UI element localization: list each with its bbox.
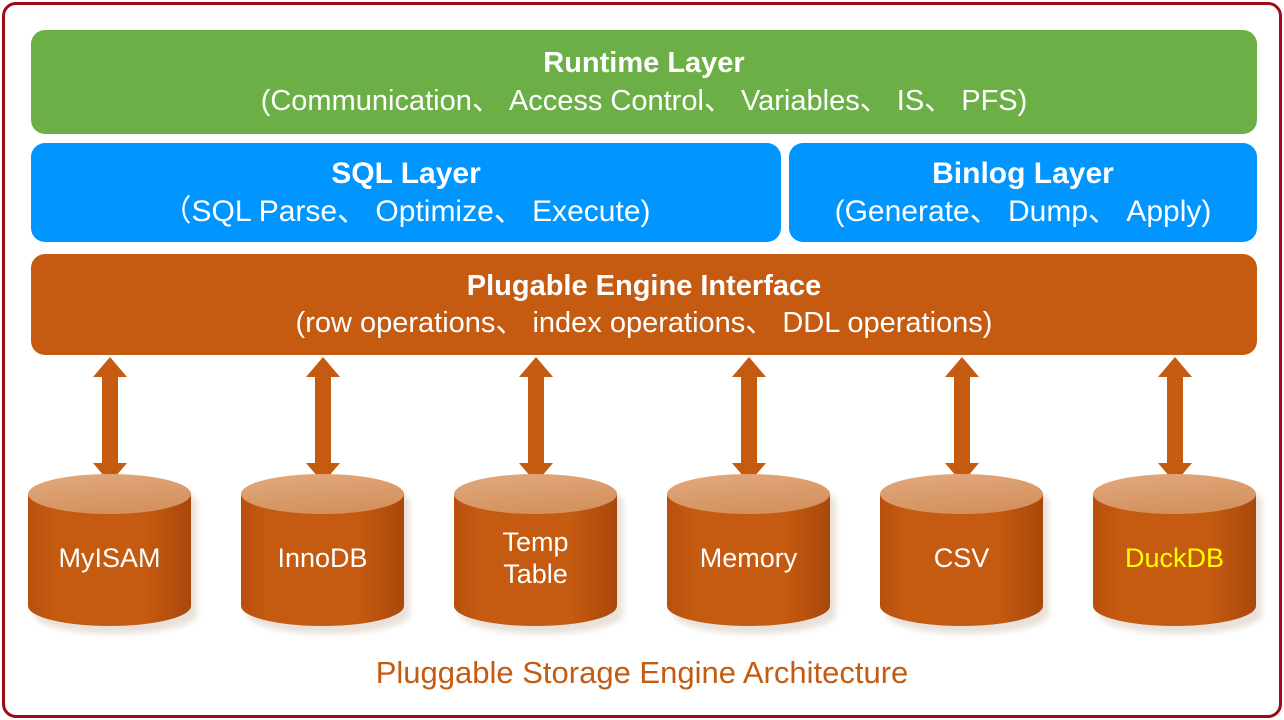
storage-engine-label-csv: CSV	[880, 474, 1043, 626]
storage-engine-cylinder-duckdb[interactable]: DuckDB	[1093, 474, 1256, 626]
connector-arrow-myisam	[93, 357, 127, 483]
engine-interface-title: Plugable Engine Interface	[467, 269, 822, 303]
connector-arrow-memory	[732, 357, 766, 483]
diagram-canvas: Runtime Layer (Communication、 Access Con…	[0, 0, 1284, 720]
storage-engine-cylinder-csv[interactable]: CSV	[880, 474, 1043, 626]
connector-arrow-innodb	[306, 357, 340, 483]
storage-engine-label-myisam: MyISAM	[28, 474, 191, 626]
engine-interface-subtitle: (row operations、 index operations、 DDL o…	[296, 306, 993, 340]
sql-layer-subtitle: （SQL Parse、 Optimize、 Execute)	[161, 194, 650, 229]
runtime-layer-subtitle: (Communication、 Access Control、 Variable…	[261, 84, 1028, 118]
binlog-layer-box: Binlog Layer (Generate、 Dump、 Apply)	[789, 143, 1257, 242]
storage-engine-label-duckdb: DuckDB	[1093, 474, 1256, 626]
binlog-layer-title: Binlog Layer	[932, 156, 1114, 191]
connector-arrow-csv	[945, 357, 979, 483]
sql-layer-box: SQL Layer （SQL Parse、 Optimize、 Execute)	[31, 143, 781, 242]
storage-engine-cylinder-memory[interactable]: Memory	[667, 474, 830, 626]
storage-engine-cylinder-myisam[interactable]: MyISAM	[28, 474, 191, 626]
storage-engine-label-memory: Memory	[667, 474, 830, 626]
storage-engine-label-innodb: InnoDB	[241, 474, 404, 626]
storage-engine-cylinder-temp-table[interactable]: Temp Table	[454, 474, 617, 626]
runtime-layer-title: Runtime Layer	[543, 46, 744, 80]
plugable-engine-interface-box: Plugable Engine Interface (row operation…	[31, 254, 1257, 355]
storage-engine-cylinder-innodb[interactable]: InnoDB	[241, 474, 404, 626]
connector-arrow-duckdb	[1158, 357, 1192, 483]
connector-arrow-temp-table	[519, 357, 553, 483]
sql-layer-title: SQL Layer	[331, 156, 481, 191]
binlog-layer-subtitle: (Generate、 Dump、 Apply)	[835, 194, 1212, 229]
runtime-layer-box: Runtime Layer (Communication、 Access Con…	[31, 30, 1257, 134]
diagram-caption: Pluggable Storage Engine Architecture	[0, 655, 1284, 691]
storage-engine-label-temp-table: Temp Table	[454, 474, 617, 626]
